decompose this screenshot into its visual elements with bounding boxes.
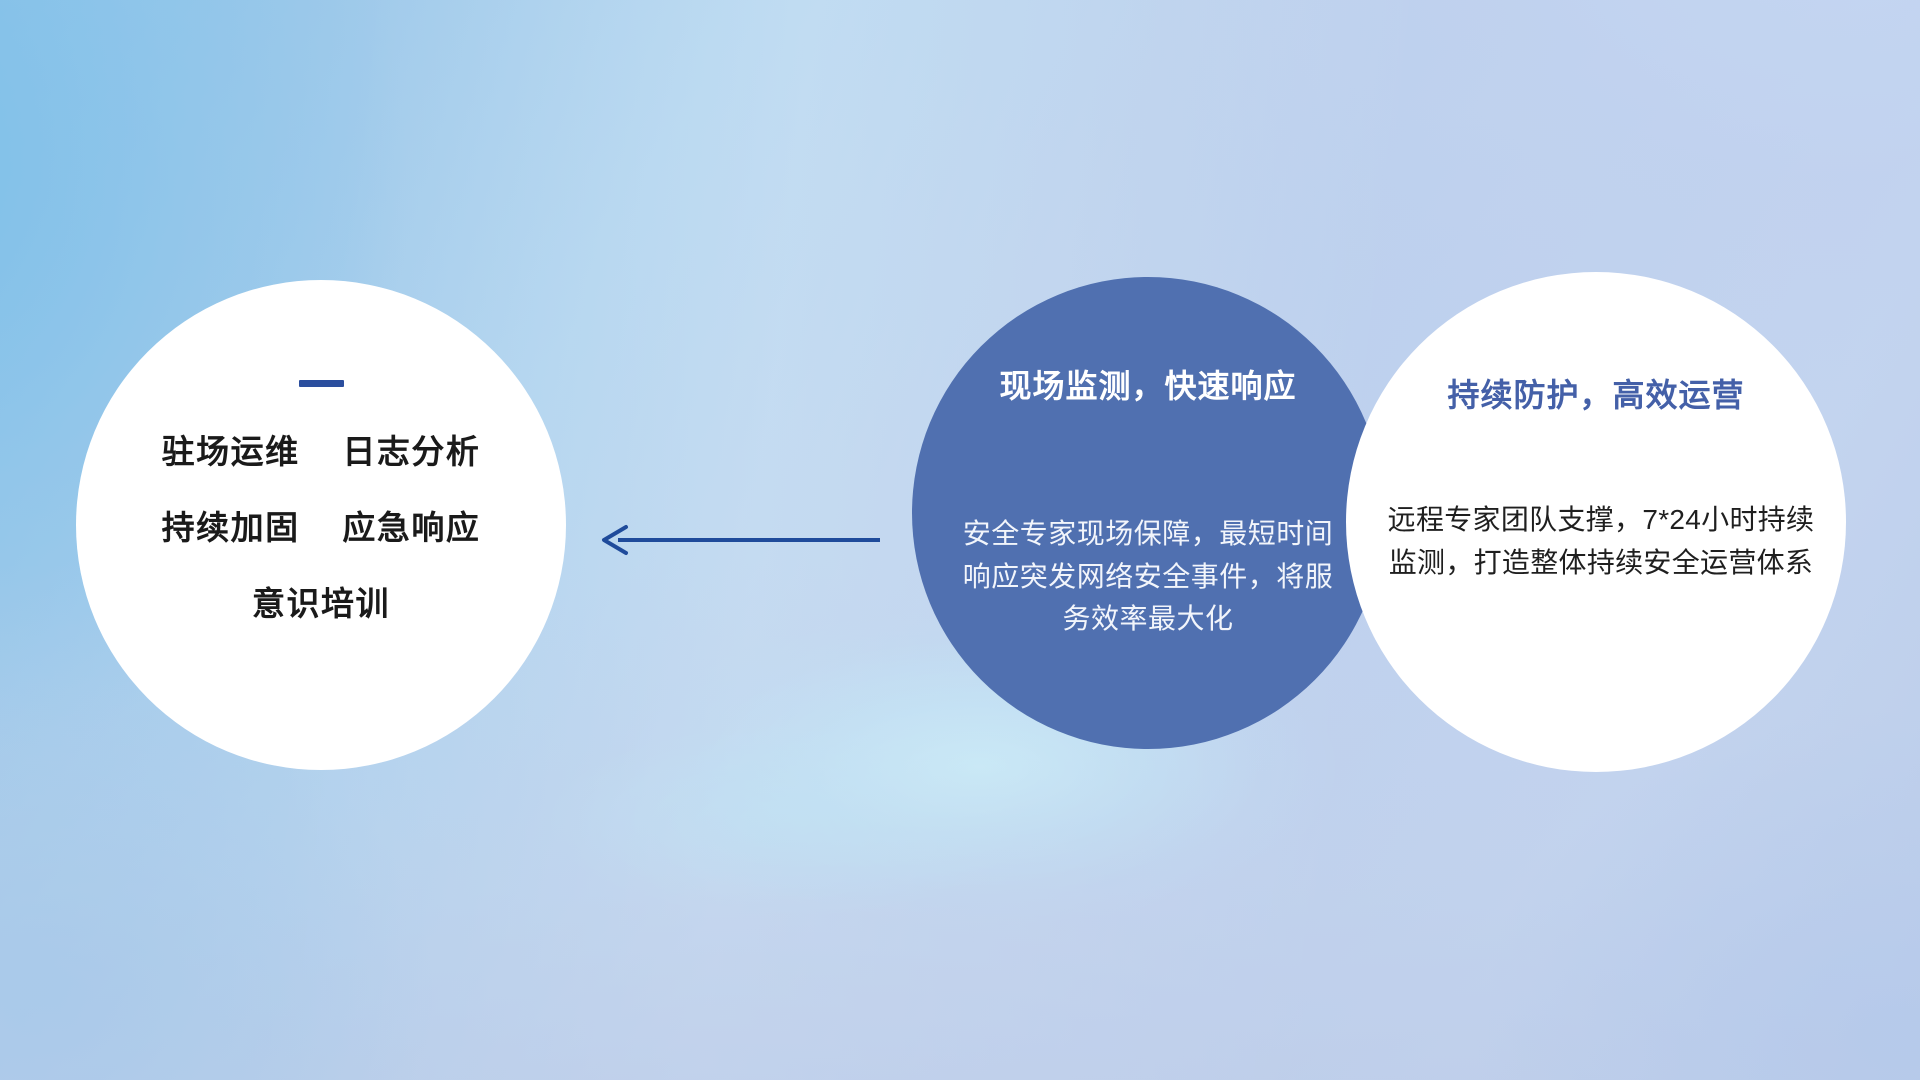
right-circle-title: 持续防护，高效运营 (1346, 370, 1846, 416)
leftward-arrow (592, 510, 882, 570)
divider-dash-icon (299, 380, 344, 387)
center-circle-onsite-monitoring[interactable]: 现场监测，快速响应 安全专家现场保障，最短时间响应突发网络安全事件，将服务效率最… (912, 277, 1384, 749)
left-circle-content: 驻场运维 日志分析 持续加固 应急响应 意识培训 (76, 380, 566, 620)
right-circle-continuous-protection[interactable]: 持续防护，高效运营 远程专家团队支撑，7*24小时持续监测，打造整体持续安全运营… (1346, 272, 1846, 772)
center-circle-title: 现场监测，快速响应 (912, 361, 1384, 407)
right-circle-body: 远程专家团队支撑，7*24小时持续监测，打造整体持续安全运营体系 (1380, 498, 1822, 585)
capability-line-3: 意识培训 (252, 587, 390, 620)
capability-line-1: 驻场运维 日志分析 (162, 435, 481, 468)
leftward-arrow-icon (592, 510, 882, 570)
capability-line-2: 持续加固 应急响应 (162, 511, 481, 544)
left-circle-capabilities[interactable]: 驻场运维 日志分析 持续加固 应急响应 意识培训 (76, 280, 566, 770)
slide-canvas: 驻场运维 日志分析 持续加固 应急响应 意识培训 现场监测，快速响应 安全专家现… (0, 0, 1920, 1080)
center-circle-body: 安全专家现场保障，最短时间响应突发网络安全事件，将服务效率最大化 (950, 513, 1346, 641)
